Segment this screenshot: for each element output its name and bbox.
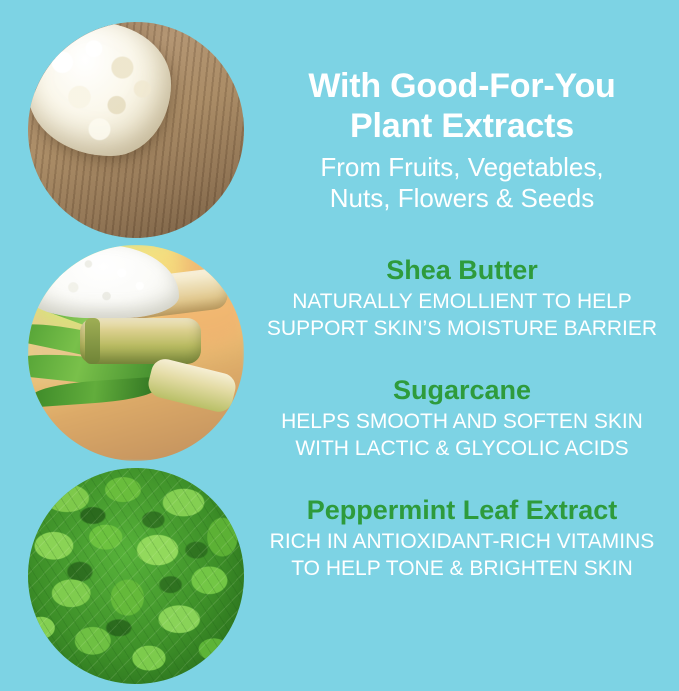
headline-line-1: With Good-For-You — [308, 67, 615, 105]
headline-line-2: Plant Extracts — [350, 107, 574, 145]
ingredient-description: RICH IN ANTIOXIDANT-RICH VITAMINS TO HEL… — [262, 528, 662, 582]
photo-column — [28, 22, 244, 691]
subtitle-line-1: From Fruits, Vegetables, — [320, 152, 603, 182]
description-line-2: TO HELP TONE & BRIGHTEN SKIN — [262, 555, 662, 582]
ingredient-description: HELPS SMOOTH AND SOFTEN SKIN WITH LACTIC… — [262, 408, 662, 462]
ingredient-name: Sugarcane — [262, 374, 662, 406]
ingredient-infographic: With Good-For-You Plant Extracts From Fr… — [0, 0, 679, 679]
shea-butter-photo — [28, 22, 244, 238]
peppermint-photo — [28, 468, 244, 684]
ingredient-name: Shea Butter — [262, 254, 662, 286]
description-line-2: WITH LACTIC & GLYCOLIC ACIDS — [262, 435, 662, 462]
description-line-1: RICH IN ANTIOXIDANT-RICH VITAMINS — [262, 528, 662, 555]
mint-leaf-veins — [28, 468, 244, 684]
description-line-1: HELPS SMOOTH AND SOFTEN SKIN — [262, 408, 662, 435]
subtitle-line-2: Nuts, Flowers & Seeds — [330, 183, 594, 213]
ingredient-name: Peppermint Leaf Extract — [262, 494, 662, 526]
ingredient-description: NATURALLY EMOLLIENT TO HELP SUPPORT SKIN… — [262, 288, 662, 342]
page-subtitle: From Fruits, Vegetables, Nuts, Flowers &… — [262, 152, 662, 214]
cane-stalk — [80, 318, 201, 363]
text-column: With Good-For-You Plant Extracts From Fr… — [262, 0, 662, 679]
sugarcane-photo — [28, 245, 244, 461]
ingredient-peppermint-leaf-extract: Peppermint Leaf Extract RICH IN ANTIOXID… — [262, 494, 662, 582]
description-line-1: NATURALLY EMOLLIENT TO HELP — [262, 288, 662, 315]
description-line-2: SUPPORT SKIN’S MOISTURE BARRIER — [262, 315, 662, 342]
ingredient-shea-butter: Shea Butter NATURALLY EMOLLIENT TO HELP … — [262, 254, 662, 342]
ingredient-sugarcane: Sugarcane HELPS SMOOTH AND SOFTEN SKIN W… — [262, 374, 662, 462]
page-title: With Good-For-You Plant Extracts — [262, 0, 662, 146]
